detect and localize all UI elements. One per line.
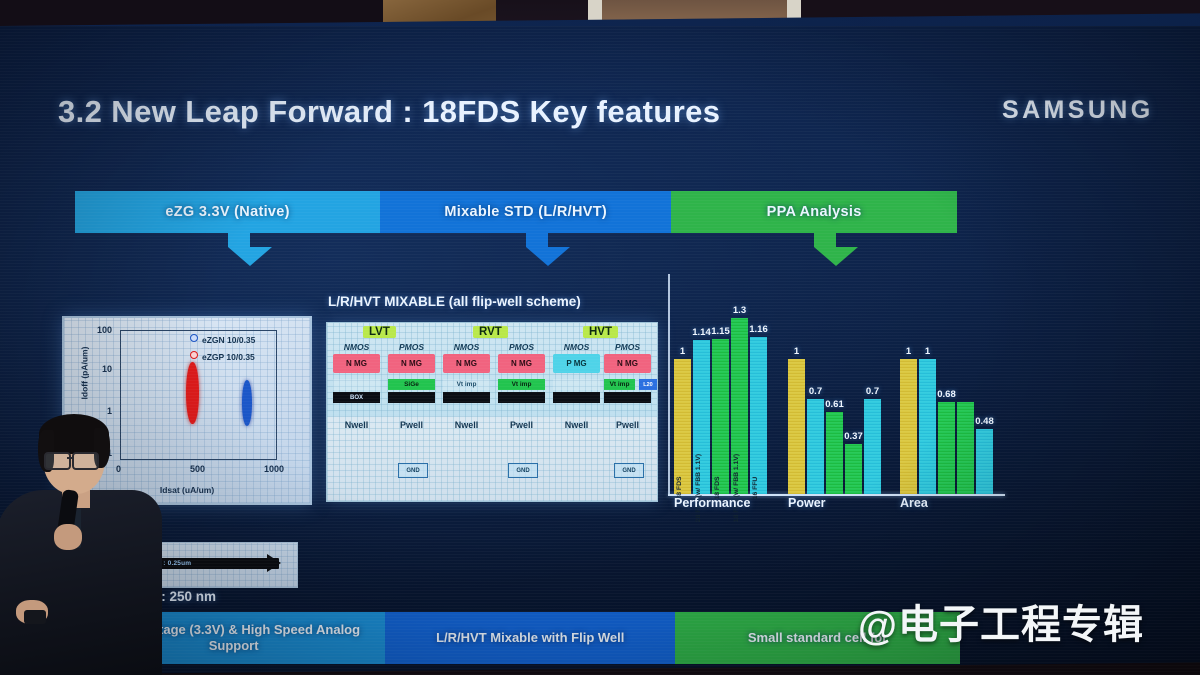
legend-marker-icon: [190, 334, 198, 342]
banner-segment-label: Mixable STD (L/R/HVT): [444, 204, 607, 220]
footer-summary-bar: High Voltage (3.3V) & High Speed Analog …: [82, 612, 960, 664]
glasses-bridge: [67, 457, 72, 459]
data-cluster-ezgp: [186, 362, 199, 424]
legend-label: eZGP 10/0.35: [202, 352, 255, 362]
presenter: [0, 412, 162, 675]
bar: 1.318 FDS (w/ FBB 1.1V): [731, 318, 748, 494]
cross-section-column: NMOS N MG BOX Nwell: [329, 323, 384, 501]
data-cluster-ezgn: [242, 380, 252, 426]
gnd-contact: GND: [398, 463, 428, 478]
bar-fill: [957, 402, 974, 494]
legend-item-ezgn: eZGN 10/0.35: [190, 334, 255, 345]
bar-fill: [826, 412, 843, 494]
bar-value-label: 0.7: [809, 386, 822, 397]
bar-value-label: 1.15: [711, 326, 730, 337]
box-layer: [553, 392, 600, 403]
glasses-icon: [44, 452, 71, 470]
presenter-suit: [0, 490, 162, 675]
bar: 0.37: [845, 444, 862, 494]
mos-type-label: NMOS: [439, 342, 494, 352]
metal-gate-label: N MG: [388, 354, 435, 373]
y-tick-label: 10: [78, 364, 112, 374]
mos-type-label: PMOS: [384, 342, 439, 352]
bar: 1: [900, 359, 917, 494]
bar: 0.61: [826, 412, 843, 494]
bar-group-power: 10.70.610.370.7Power: [788, 359, 881, 494]
feature-banner: eZG 3.3V (Native) Mixable STD (L/R/HVT) …: [75, 191, 957, 233]
bar: 1.1518 FDS: [712, 339, 729, 494]
bar-value-label: 0.68: [937, 389, 956, 400]
metal-gate-label: P MG: [553, 354, 600, 373]
bar-fill: [919, 359, 936, 494]
bar: 1: [919, 359, 936, 494]
well-label: Nwell: [331, 407, 382, 443]
bar: 0.7: [864, 399, 881, 494]
cross-section-column: PMOS N MG Vt imp L20 Pwell GND: [600, 323, 655, 501]
bar: 0.7: [807, 399, 824, 494]
metal-gate-label: N MG: [604, 354, 651, 373]
lmin-value: : 250 nm: [158, 589, 217, 604]
sige-strip: SiGe: [388, 379, 435, 390]
cross-section-column: PMOS N MG Vt imp Pwell GND: [494, 323, 549, 501]
mos-type-label: PMOS: [494, 342, 549, 352]
well-label: Pwell: [386, 407, 437, 443]
bar-value-label: 1: [925, 346, 930, 357]
chart-group-label: Area: [900, 496, 928, 510]
banner-segment-label: PPA Analysis: [767, 204, 862, 220]
bar: 0.48: [976, 429, 993, 494]
well-label: Pwell: [602, 407, 653, 443]
flip-well-cross-section: LVT RVT HVT NMOS N MG BOX Nwell PMOS N M…: [326, 322, 658, 502]
bar-series-label: 18 FDS (w/ FBB 1.1V): [733, 454, 740, 522]
bar-fill: [788, 359, 805, 494]
legend-item-ezgp: eZGP 10/0.35: [190, 351, 255, 362]
page-title: 3.2 New Leap Forward : 18FDS Key feature…: [58, 94, 720, 130]
cross-section-title: L/R/HVT MIXABLE (all flip-well scheme): [328, 294, 581, 309]
bar-value-label: 1.14: [692, 327, 711, 338]
bar-value-label: 1: [680, 346, 685, 357]
bar-value-label: 1.16: [749, 324, 768, 335]
bar-fill: [900, 359, 917, 494]
mos-type-label: PMOS: [600, 342, 655, 352]
chart-group-label: Power: [788, 496, 826, 510]
x-tick-label: 1000: [264, 464, 284, 474]
bar-value-label: 1: [906, 346, 911, 357]
presentation-clicker: [24, 610, 46, 624]
banner-segment-ppa-analysis: PPA Analysis: [671, 191, 957, 233]
bar-fill: [712, 339, 729, 494]
bar-fill: [864, 399, 881, 494]
x-tick-label: 500: [190, 464, 205, 474]
watermark-text: 电子工程专辑: [898, 603, 1144, 647]
watermark-at-icon: @: [858, 604, 898, 649]
banner-segment-label: eZG 3.3V (Native): [165, 204, 289, 220]
cross-section-column: PMOS N MG SiGe Pwell GND: [384, 323, 439, 501]
bar: 1: [788, 359, 805, 494]
bar-group-area: 110.680.48Area: [900, 359, 993, 494]
chart-y-axis: [668, 274, 670, 496]
bar: [957, 402, 974, 494]
chart-group-label: Performance: [674, 496, 750, 510]
well-label: Pwell: [496, 407, 547, 443]
vt-implant-strip: Vt imp: [604, 379, 635, 390]
well-label: Nwell: [441, 407, 492, 443]
mos-type-label: NMOS: [329, 342, 384, 352]
vt-implant-strip: Vt imp: [498, 379, 545, 390]
presentation-screen: 3.2 New Leap Forward : 18FDS Key feature…: [0, 13, 1200, 675]
bar-fill: [845, 444, 862, 494]
l20-tag: L20: [639, 379, 657, 390]
bar-value-label: 0.37: [844, 431, 863, 442]
box-layer: [388, 392, 435, 403]
bar-series-label: 16 FFU: [752, 477, 759, 500]
banner-segment-mixable-std: Mixable STD (L/R/HVT): [380, 191, 671, 233]
metal-gate-label: N MG: [443, 354, 490, 373]
cross-section-column: NMOS P MG Nwell: [549, 323, 604, 501]
y-tick-label: 100: [78, 325, 112, 335]
slide-content: 3.2 New Leap Forward : 18FDS Key feature…: [0, 26, 1200, 675]
bar-series-label: 28 FDS (w/ FBB 1.1V): [695, 454, 702, 522]
gnd-contact: GND: [508, 463, 538, 478]
metal-gate-label: N MG: [498, 354, 545, 373]
box-layer: [604, 392, 651, 403]
tem-gate-tip: [267, 554, 281, 572]
well-label: Nwell: [551, 407, 602, 443]
screenshot-stage: 3.2 New Leap Forward : 18FDS Key feature…: [0, 0, 1200, 675]
vt-implant-strip: Vt imp: [443, 379, 490, 390]
mos-type-label: NMOS: [549, 342, 604, 352]
box-layer-label: BOX: [333, 392, 380, 403]
legend-marker-icon: [190, 351, 198, 359]
box-layer: [443, 392, 490, 403]
bar: 0.68: [938, 402, 955, 494]
legend-label: eZGN 10/0.35: [202, 335, 255, 345]
footer-item-mixable-flip-well: L/R/HVT Mixable with Flip Well: [385, 612, 675, 664]
metal-gate-label: N MG: [333, 354, 380, 373]
cross-section-column: NMOS N MG Vt imp Nwell: [439, 323, 494, 501]
bar-value-label: 0.7: [866, 386, 879, 397]
banner-segment-ezg: eZG 3.3V (Native): [75, 191, 380, 233]
bar: 128 FDS: [674, 359, 691, 494]
bar-value-label: 1.3: [733, 305, 746, 316]
bar-fill: [938, 402, 955, 494]
bar-group-performance: 128 FDS1.1428 FDS (w/ FBB 1.1V)1.1518 FD…: [674, 318, 767, 494]
presenter-hand: [54, 524, 82, 550]
bar: 1.1428 FDS (w/ FBB 1.1V): [693, 340, 710, 494]
bar-fill: [674, 359, 691, 494]
bar-value-label: 0.48: [975, 416, 994, 427]
ppa-bar-chart: 128 FDS1.1428 FDS (w/ FBB 1.1V)1.1518 FD…: [660, 274, 1005, 509]
box-layer: [498, 392, 545, 403]
glasses-icon: [72, 452, 99, 470]
watermark: @电子工程专辑: [858, 592, 1144, 650]
bar-value-label: 0.61: [825, 399, 844, 410]
vt-implant-strip: [333, 379, 380, 390]
vt-implant-strip: [553, 379, 600, 390]
bar-fill: [750, 337, 767, 494]
bar-fill: [976, 429, 993, 494]
bar-fill: [807, 399, 824, 494]
gnd-contact: GND: [614, 463, 644, 478]
samsung-logo: SAMSUNG: [1002, 96, 1154, 125]
bar: 1.1616 FFU: [750, 337, 767, 494]
bar-value-label: 1: [794, 346, 799, 357]
